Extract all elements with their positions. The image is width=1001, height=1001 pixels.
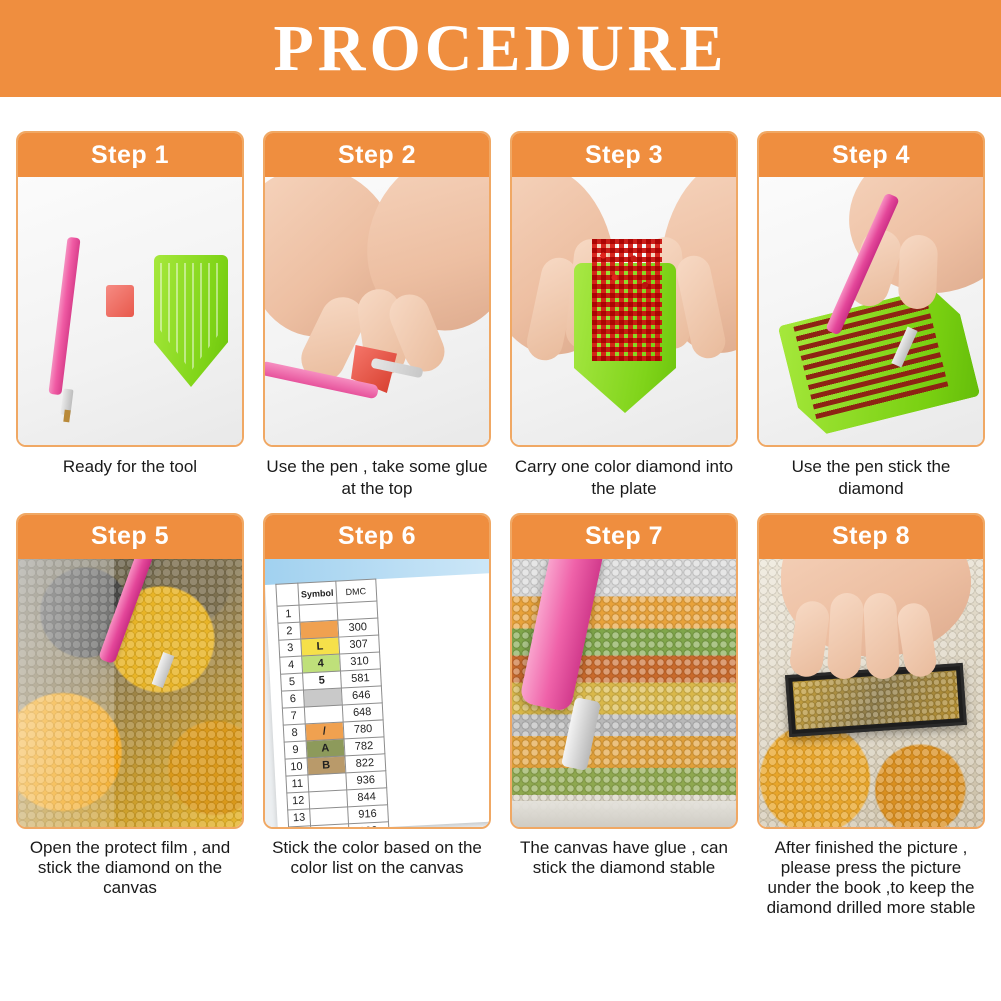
cell-symbol: A <box>306 738 344 757</box>
step-6-badge: Step 6 <box>265 515 489 559</box>
cell-code: 916 <box>347 804 388 823</box>
cell-symbol: B <box>307 755 345 774</box>
cell-index: 5 <box>281 673 304 691</box>
finger-icon <box>863 592 900 680</box>
cell-symbol <box>304 705 342 724</box>
step-3-caption: Carry one color diamond into the plate <box>510 456 738 500</box>
cell-symbol: / <box>305 721 343 740</box>
cell-index: 8 <box>283 723 306 741</box>
step-7-badge: Step 7 <box>512 515 736 559</box>
column-header-dmc: DMC <box>335 579 376 603</box>
step-7-illustration <box>512 559 736 827</box>
cell-symbol: L <box>301 637 339 656</box>
step-5-card: Step 5 <box>16 513 244 829</box>
cell-code: 646 <box>341 685 382 704</box>
step-1-card: Step 1 <box>16 131 244 447</box>
step-5-badge: Step 5 <box>18 515 242 559</box>
finger-icon <box>898 234 939 309</box>
procedure-infographic: PROCEDURE Step 1 Ready for the tool <box>0 0 1001 1001</box>
step-2-badge: Step 2 <box>265 133 489 177</box>
cell-index: 4 <box>280 656 303 674</box>
cell-index: 11 <box>286 774 309 792</box>
step-6-caption: Stick the color based on the color list … <box>263 838 491 878</box>
step-8-illustration <box>759 559 983 827</box>
cell-code: 648 <box>342 702 383 721</box>
cell-code: 300 <box>337 618 378 637</box>
step-8-caption: After finished the picture , please pres… <box>757 838 985 918</box>
cell-symbol: 5 <box>303 671 341 690</box>
step-4-badge: Step 4 <box>759 133 983 177</box>
canvas-edge <box>512 801 736 827</box>
steps-grid: Step 1 Ready for the tool Step 2 <box>16 131 985 918</box>
glue-square-icon <box>106 285 134 317</box>
step-7-card: Step 7 <box>510 513 738 829</box>
step-card-6: Step 6 Symbol DMC 1 <box>263 513 491 918</box>
step-card-4: Step 4 Use the pen stick the diamond <box>757 131 985 500</box>
step-2-caption: Use the pen , take some glue at the top <box>263 456 491 500</box>
cell-index: 13 <box>288 808 311 826</box>
step-4-card: Step 4 <box>757 131 985 447</box>
step-7-caption: The canvas have glue , can stick the dia… <box>510 838 738 878</box>
cell-code: 780 <box>343 719 384 738</box>
cell-symbol <box>309 789 347 808</box>
page-header-banner: PROCEDURE <box>0 0 1001 97</box>
step-6-illustration: Symbol DMC 1 2 300 <box>265 559 489 827</box>
step-card-8: Step 8 After finished the picture , plea… <box>757 513 985 918</box>
step-card-3: Step 3 Carry one color diamond into the … <box>510 131 738 500</box>
step-card-5: Step 5 Open the protect film , and stick… <box>16 513 244 918</box>
cell-index: 2 <box>278 622 301 640</box>
step-1-caption: Ready for the tool <box>16 456 244 478</box>
step-4-caption: Use the pen stick the diamond <box>757 456 985 500</box>
column-header-symbol: Symbol <box>298 581 337 605</box>
step-3-illustration <box>512 177 736 445</box>
cell-index: 12 <box>287 791 310 809</box>
step-1-badge: Step 1 <box>18 133 242 177</box>
cell-index: 9 <box>284 740 307 758</box>
cell-code: 822 <box>344 753 385 772</box>
cell-index: 1 <box>277 605 300 623</box>
cell-code <box>336 601 377 620</box>
cell-index: 10 <box>285 757 308 775</box>
finger-icon <box>827 592 864 680</box>
step-5-illustration <box>18 559 242 827</box>
cell-symbol <box>300 620 338 639</box>
cell-symbol: 4 <box>302 654 340 673</box>
step-6-card: Step 6 Symbol DMC 1 <box>263 513 491 829</box>
cell-code: 844 <box>346 787 387 806</box>
protective-film-icon <box>18 559 114 827</box>
step-3-card: Step 3 <box>510 131 738 447</box>
column-header-index <box>276 583 299 606</box>
cell-symbol <box>308 772 346 791</box>
loose-diamonds-icon <box>588 241 664 387</box>
color-code-table: Symbol DMC 1 2 300 <box>275 578 391 826</box>
cell-symbol <box>310 806 348 825</box>
step-3-badge: Step 3 <box>512 133 736 177</box>
cell-symbol <box>299 603 337 622</box>
step-4-illustration <box>759 177 983 445</box>
cell-code: 307 <box>338 635 379 654</box>
step-card-7: Step 7 The canvas have glue , can stick … <box>510 513 738 918</box>
step-5-caption: Open the protect film , and stick the di… <box>16 838 244 898</box>
cell-code: 936 <box>345 770 386 789</box>
step-8-badge: Step 8 <box>759 515 983 559</box>
cell-index: 6 <box>281 690 304 708</box>
step-card-1: Step 1 Ready for the tool <box>16 131 244 500</box>
step-2-illustration <box>265 177 489 445</box>
step-card-2: Step 2 Use the pen , take some glue at t… <box>263 131 491 500</box>
cell-code: 581 <box>340 668 381 687</box>
cell-code: 782 <box>344 736 385 755</box>
cell-code: 310 <box>339 651 380 670</box>
cell-symbol <box>303 688 341 707</box>
step-8-card: Step 8 <box>757 513 985 829</box>
cell-index: 7 <box>282 706 305 724</box>
step-1-illustration <box>18 177 242 445</box>
book-cover-art <box>793 670 960 729</box>
step-2-card: Step 2 <box>263 131 491 447</box>
cell-index: 3 <box>279 639 302 657</box>
page-title: PROCEDURE <box>273 16 727 82</box>
